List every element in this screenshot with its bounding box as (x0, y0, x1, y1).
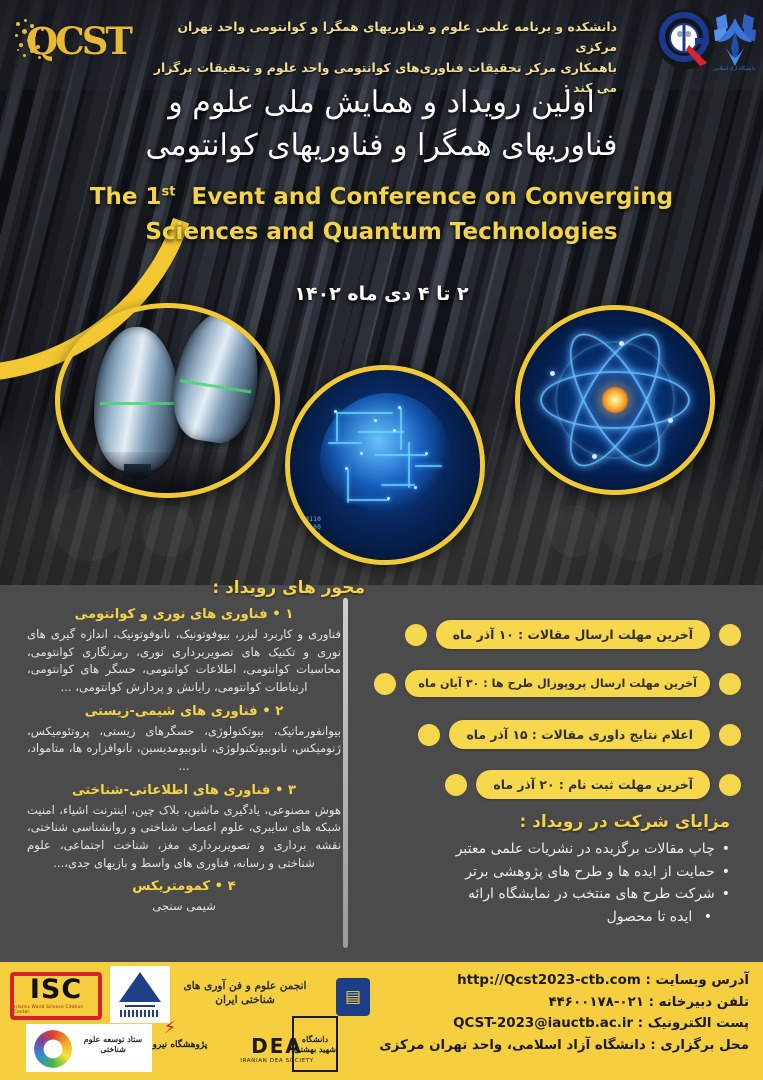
ghost-circle-1 (52, 487, 126, 561)
ghost-circle-4 (548, 505, 600, 557)
event-date: ۲ تا ۴ دی ماه ۱۴۰۲ (0, 283, 763, 305)
iranian-cognitive-science-association-logo: انجمن علوم و فن آوری های شناختی ایران (175, 968, 315, 1020)
deadline-dot-right (405, 624, 427, 646)
deadline-registration: آخرین مهلت ثبت نام : ۲۰ آذر ماه (476, 770, 710, 799)
footer-phone-value: ۰۲۱-۴۴۶۰۰۱۷۸ (548, 995, 643, 1010)
ghost-circle-2 (142, 505, 194, 557)
topic-bullet: • (262, 704, 270, 719)
benefit-continuation-text: ایده تا محصول (607, 909, 693, 925)
title-en-line-1: The 1st Event and Conference on Convergi… (38, 180, 725, 215)
association-name-text: انجمن علوم و فن آوری های شناختی ایران (175, 980, 315, 1007)
deadline-paper-submission: آخرین مهلت ارسال مقالات : ۱۰ آذر ماه (436, 620, 710, 649)
deadline-dot-left (719, 624, 741, 646)
deadline-row: اعلام نتایج داوری مقالات : ۱۵ آذر ماه (418, 720, 741, 749)
conference-poster: QCST دانشگاه آزاد اسلامی دانشکده و ب (0, 0, 763, 1080)
topic-number: ۱ (285, 607, 293, 622)
isc-logo: ISC Islamic World Science Citation Cente… (10, 972, 102, 1020)
ghost-circle-3 (600, 487, 674, 561)
footer-phone-row: تلفن دبیرخانه : ۰۲۱-۴۴۶۰۰۱۷۸ (329, 992, 749, 1014)
topic-label: فناوری های نوری و کوانتومی (75, 607, 268, 622)
topic-bullet: • (215, 879, 223, 894)
footer-website-label: آدرس وبسایت : (645, 973, 749, 988)
deadline-dot-right (418, 724, 440, 746)
footer-email-row: پست الکترونیک : QCST-2023@iauctb.ac.ir (329, 1013, 749, 1035)
footer-venue-value: دانشگاه آزاد اسلامی، واحد تهران مرکزی (379, 1038, 645, 1053)
topic-title: ۴ • کمومتریکس (23, 878, 345, 895)
page-title-persian: اولین رویداد و همایش ملی علوم و فناوریها… (0, 82, 763, 167)
deadline-row: آخرین مهلت ارسال مقالات : ۱۰ آذر ماه (405, 620, 741, 649)
isc-logo-subtitle: Islamic World Science Citation Center (14, 1004, 98, 1014)
title-en-ordinal: st (162, 184, 176, 199)
benefits-list: چاپ مقالات برگزیده در نشریات علمی معتبر … (380, 838, 730, 929)
shahid-beheshti-university-logo: دانشگاه شهید بهشتی (292, 1016, 338, 1072)
cognitive-council-caption: ستاد توسعه علوم شناختی (82, 1034, 144, 1054)
topic-bullet: • (272, 607, 280, 622)
topic-number: ۲ (275, 704, 283, 719)
axes-topic-list: ۱ • فناوری های نوری و کوانتومی فناوری و … (23, 600, 345, 916)
benefit-item: حمایت از ایده ها و طرح های پژوهشی برتر (380, 861, 730, 884)
header-line-1: دانشکده و برنامه علمی علوم و فناوریهای ه… (147, 17, 617, 58)
lightning-bolt-icon: ⚡ (164, 1018, 176, 1038)
azad-logo-caption: دانشگاه آزاد اسلامی (706, 66, 762, 72)
footer-email-value[interactable]: QCST-2023@iauctb.ac.ir (453, 1016, 633, 1031)
benefit-continuation: ایده تا محصول (380, 906, 730, 929)
topic-item: ۴ • کمومتریکس شیمی سنجی (23, 878, 345, 916)
topic-item: ۳ • فناوری های اطلاعاتی-شناختی هوش مصنوع… (23, 782, 345, 873)
benefits-section-heading: مزایای شرکت در رویداد : (519, 812, 730, 832)
atom-nucleus (602, 387, 628, 413)
axes-section-heading: محور های رویداد : (212, 578, 365, 598)
cone-icon (119, 972, 161, 1002)
circuit-brain-photo: 0110010010011001 (285, 365, 485, 565)
binary-digits: 0110010010011001 (305, 516, 321, 548)
topic-bullet: • (275, 783, 283, 798)
deadline-row: آخرین مهلت ارسال پروپوزال طرح ها : ۳۰ آب… (374, 670, 741, 697)
title-en-prefix: The 1 (90, 184, 162, 210)
topic-title: ۱ • فناوری های نوری و کوانتومی (23, 606, 345, 623)
topic-number: ۴ (228, 879, 236, 894)
benefit-item: شرکت طرح های منتخب در نمایشگاه ارائه (380, 883, 730, 906)
topic-item: ۱ • فناوری های نوری و کوانتومی فناوری و … (23, 606, 345, 697)
deadline-dot-left (719, 724, 741, 746)
benefit-item: چاپ مقالات برگزیده در نشریات علمی معتبر (380, 838, 730, 861)
isc-logo-text: ISC (30, 978, 82, 1002)
deadline-dot-left (719, 774, 741, 796)
footer-website-value[interactable]: http://Qcst2023-ctb.com (457, 973, 641, 988)
topic-title: ۳ • فناوری های اطلاعاتی-شناختی (23, 782, 345, 799)
topic-body: بیوانفورماتیک، بیوتکنولوژی، حسگرهای زیست… (23, 723, 345, 776)
deadline-dot-right (445, 774, 467, 796)
microscope-objective-lenses-photo (55, 303, 280, 498)
quantum-research-center-logo (655, 8, 717, 70)
shahid-beheshti-text: دانشگاه شهید بهشتی (294, 1034, 336, 1054)
footer-website-row: آدرس وبسایت : http://Qcst2023-ctb.com (329, 970, 749, 992)
topic-body: هوش مصنوعی، یادگیری ماشین، بلاک چین، این… (23, 802, 345, 872)
deadline-row: آخرین مهلت ثبت نام : ۲۰ آذر ماه (445, 770, 741, 799)
topic-label: کمومتریکس (132, 879, 210, 894)
footer-contact-info: آدرس وبسایت : http://Qcst2023-ctb.com تل… (329, 970, 749, 1057)
topic-label: فناوری های اطلاعاتی-شناختی (72, 783, 270, 798)
qcst-logo: QCST (14, 10, 142, 72)
deadline-proposal-submission: آخرین مهلت ارسال پروپوزال طرح ها : ۳۰ آب… (405, 670, 710, 697)
topic-body: فناوری و کاربرد لیزر، بیوفوتونیک، نانوفو… (23, 626, 345, 696)
islamic-azad-university-logo (712, 8, 758, 74)
atom-orbit-photo (515, 305, 715, 495)
title-en-line-2: Sciences and Quantum Technologies (38, 215, 725, 250)
deadline-dot-left (719, 673, 741, 695)
niroo-research-institute-caption: پژوهشگاه نیرو (150, 1040, 210, 1050)
footer-venue-row: محل برگزاری : دانشگاه آزاد اسلامی، واحد … (329, 1035, 749, 1057)
page-title-english: The 1st Event and Conference on Convergi… (0, 180, 763, 249)
footer-venue-label: محل برگزاری : (650, 1038, 749, 1053)
topic-label: فناوری های شیمی-زیستی (85, 704, 258, 719)
deadline-review-results: اعلام نتایج داوری مقالات : ۱۵ آذر ماه (449, 720, 710, 749)
university-cone-logo (110, 966, 170, 1023)
title-en-rest: Event and Conference on Converging (192, 184, 674, 210)
footer-phone-label: تلفن دبیرخانه : (649, 995, 749, 1010)
topic-item: ۲ • فناوری های شیمی-زیستی بیوانفورماتیک،… (23, 703, 345, 776)
topic-number: ۳ (288, 783, 296, 798)
topic-body: شیمی سنجی (23, 898, 345, 916)
title-fa-line-1: اولین رویداد و همایش ملی علوم و (62, 82, 701, 125)
deadline-dot-right (374, 673, 396, 695)
qcst-pixel-dots-icon (14, 18, 60, 66)
topic-title: ۲ • فناوری های شیمی-زیستی (23, 703, 345, 720)
title-fa-line-2: فناوریهای همگرا و فناوریهای کوانتومی (62, 125, 701, 168)
color-ring-logo (34, 1030, 72, 1068)
footer-email-label: پست الکترونیک : (638, 1016, 749, 1031)
